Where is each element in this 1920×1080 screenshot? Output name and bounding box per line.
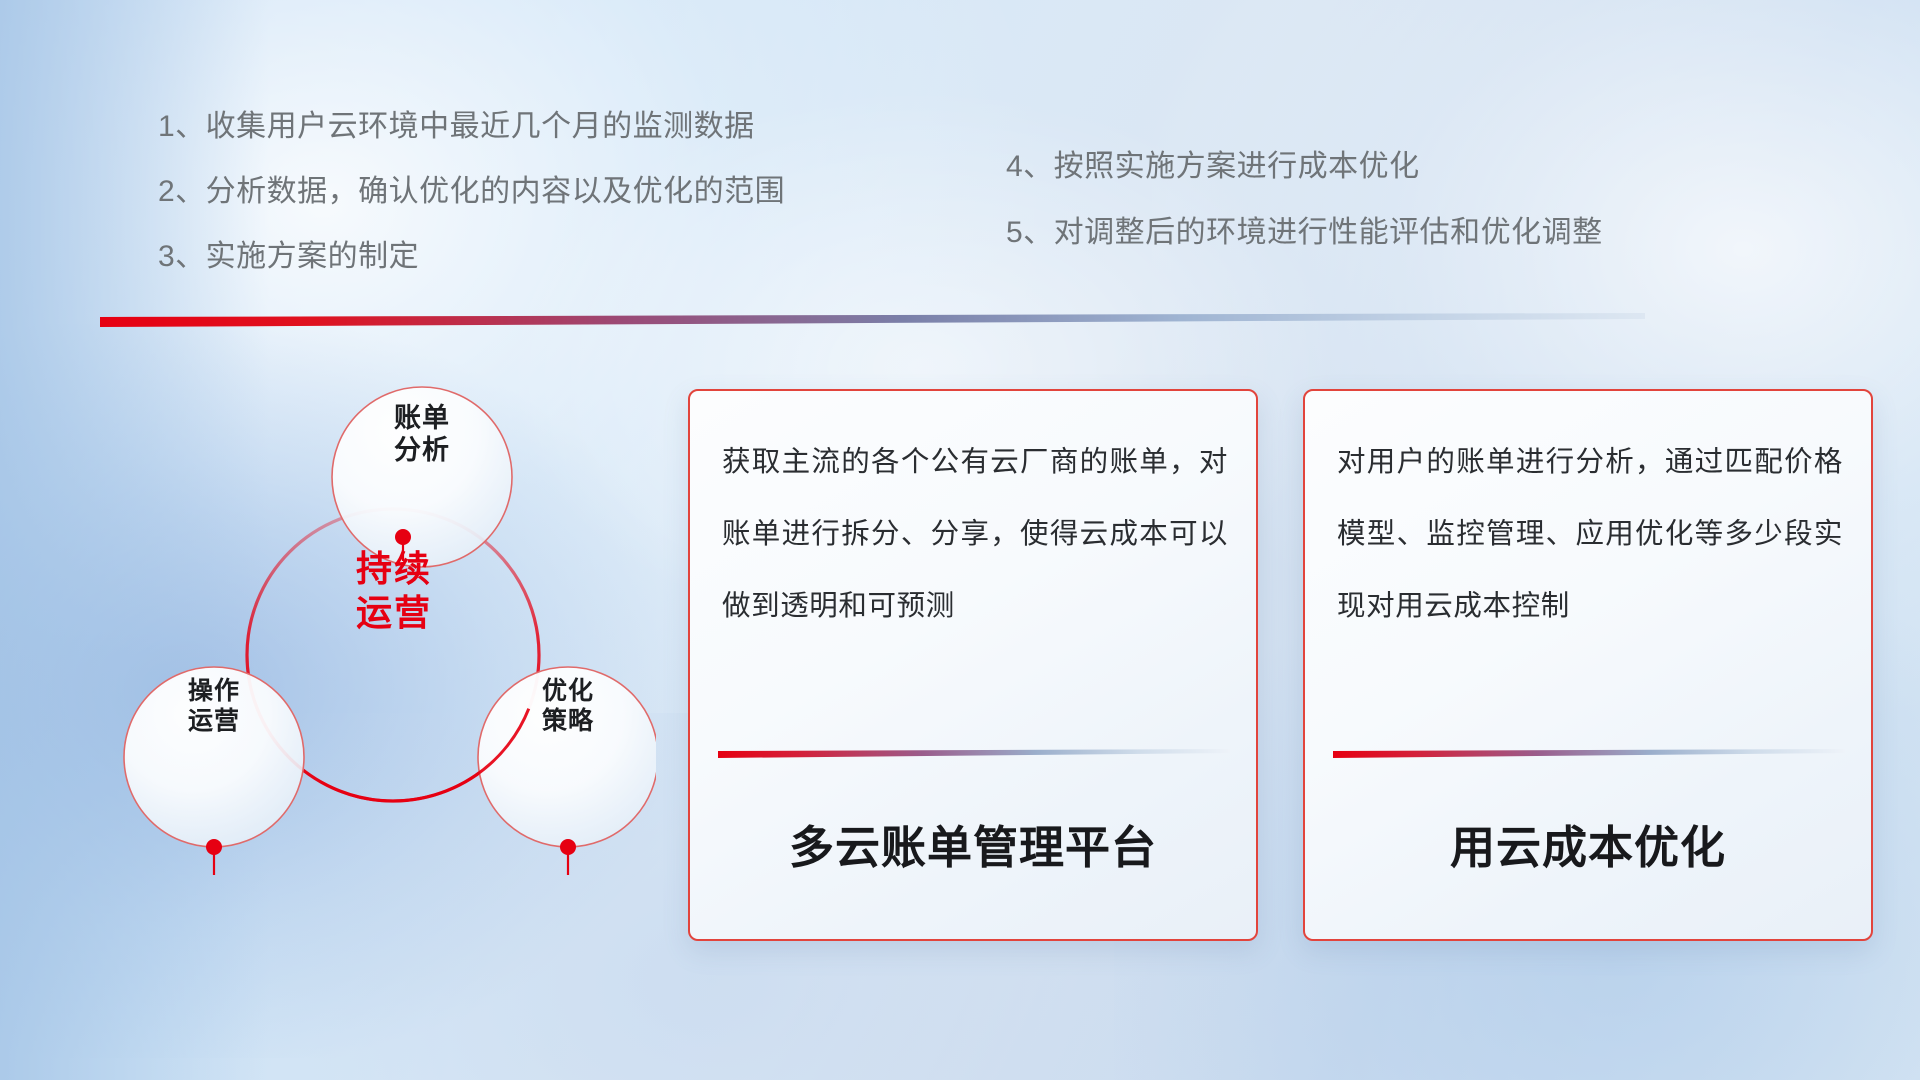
step-item: 3、实施方案的制定: [158, 242, 785, 272]
step-item: 1、收集用户云环境中最近几个月的监测数据: [158, 112, 785, 142]
section-divider: [100, 313, 1645, 329]
continuous-operation-diagram: 账单 分析 操作 运营 优化 策略 持续 运营: [96, 355, 656, 935]
card-rule-shape: [1333, 749, 1845, 758]
card-title: 用云成本优化: [1305, 811, 1871, 876]
card-body-text: 获取主流的各个公有云厂商的账单，对账单进行拆分、分享，使得云成本可以做到透明和可…: [722, 427, 1228, 642]
diagram-center-label: 持续 运营: [294, 547, 494, 635]
card-title: 多云账单管理平台: [690, 811, 1256, 876]
card-multi-cloud-billing[interactable]: 获取主流的各个公有云厂商的账单，对账单进行拆分、分享，使得云成本可以做到透明和可…: [688, 389, 1258, 941]
dot-strategy: [560, 839, 576, 855]
dot-operation: [206, 839, 222, 855]
card-rule-shape: [718, 749, 1230, 758]
bubble-label-operation: 操作 运营: [134, 677, 294, 736]
step-item: 5、对调整后的环境进行性能评估和优化调整: [1006, 218, 1603, 248]
card-accent-rule: [718, 749, 1230, 758]
bubble-label-strategy: 优化 策略: [488, 677, 648, 736]
step-item: 4、按照实施方案进行成本优化: [1006, 152, 1603, 182]
step-item: 2、分析数据，确认优化的内容以及优化的范围: [158, 177, 785, 207]
steps-left-column: 1、收集用户云环境中最近几个月的监测数据 2、分析数据，确认优化的内容以及优化的…: [158, 112, 785, 307]
bubble-label-bill-analysis: 账单 分析: [342, 403, 502, 467]
card-cloud-cost-optimization[interactable]: 对用户的账单进行分析，通过匹配价格模型、监控管理、应用优化等多少段实现对用云成本…: [1303, 389, 1873, 941]
card-accent-rule: [1333, 749, 1845, 758]
divider-shape: [100, 313, 1645, 329]
card-body-text: 对用户的账单进行分析，通过匹配价格模型、监控管理、应用优化等多少段实现对用云成本…: [1337, 427, 1843, 642]
steps-right-column: 4、按照实施方案进行成本优化 5、对调整后的环境进行性能评估和优化调整: [1006, 152, 1603, 284]
dot-bill-analysis: [395, 529, 411, 545]
